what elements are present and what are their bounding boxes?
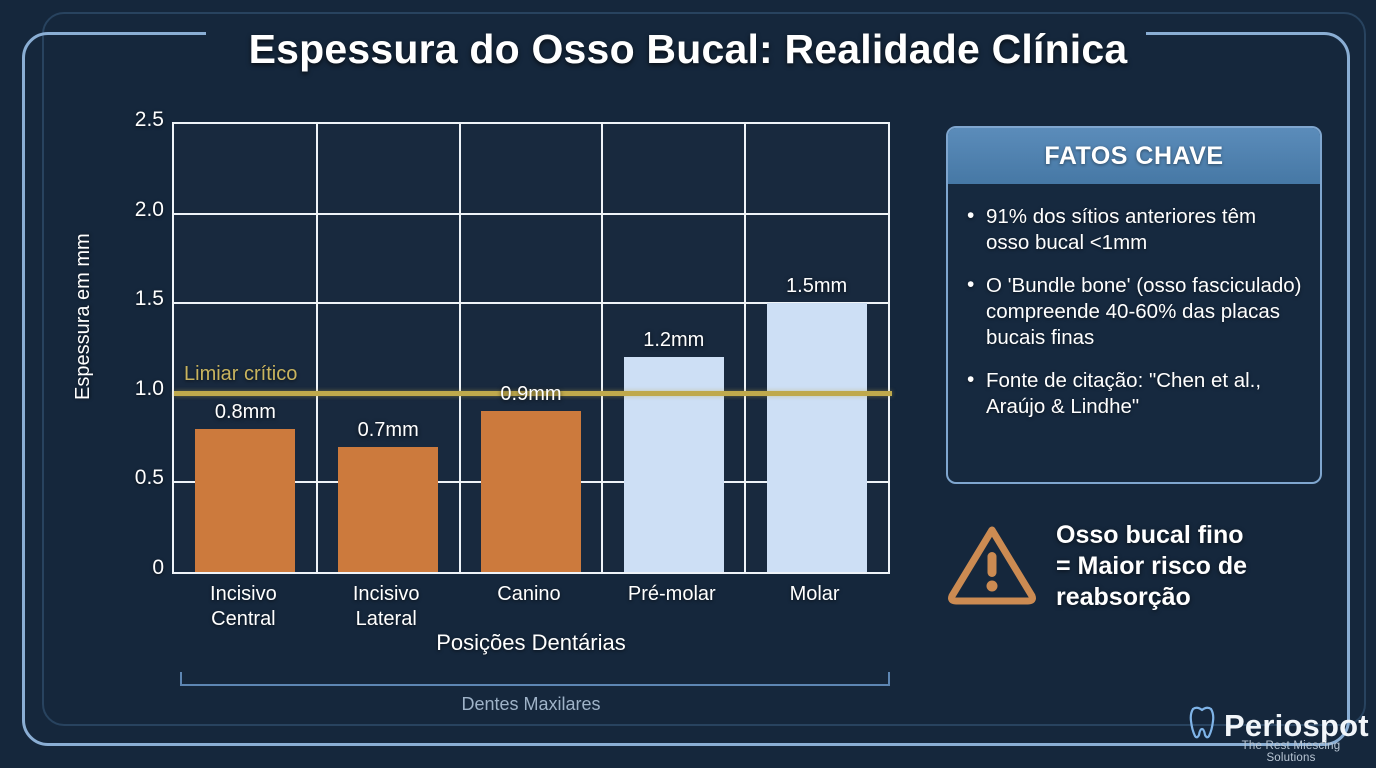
bar-value-label: 1.5mm (745, 275, 888, 298)
y-tick-label: 0.5 (135, 466, 164, 490)
bar (767, 303, 867, 572)
x-tick-label: Pré-molar (600, 582, 743, 607)
warning-text: Osso bucal fino = Maior risco de reabsor… (1056, 520, 1247, 613)
warning-line-1: Osso bucal fino (1056, 520, 1247, 551)
brand-name: Periospot (1224, 710, 1369, 742)
key-facts-panel: FATOS CHAVE 91% dos sítios anteriores tê… (946, 126, 1322, 484)
bar (481, 411, 581, 572)
gridline (316, 124, 318, 572)
x-tick-label: IncisivoCentral (172, 582, 315, 632)
bar-chart: Espessura em mm 00.51.01.52.02.5 Limiar … (0, 100, 930, 740)
bar-value-label: 0.8mm (174, 401, 317, 424)
warning-line-3: reabsorção (1056, 582, 1247, 613)
bar-value-label: 1.2mm (602, 329, 745, 352)
bracket-label: Dentes Maxilares (172, 694, 890, 715)
threshold-label: Limiar crítico (184, 363, 297, 386)
y-tick-label: 1.0 (135, 377, 164, 401)
x-tick-label: Molar (743, 582, 886, 607)
bar (195, 429, 295, 572)
x-tick-label: Canino (458, 582, 601, 607)
y-tick-label: 0 (152, 556, 164, 580)
tooth-icon (1188, 706, 1216, 745)
y-axis-title: Espessura em mm (72, 233, 95, 400)
x-axis-title: Posições Dentárias (172, 630, 890, 656)
maxillary-bracket (180, 672, 890, 686)
warning-line-2: = Maior risco de (1056, 551, 1247, 582)
bar (624, 357, 724, 572)
y-tick-label: 2.0 (135, 198, 164, 222)
brand-tagline: The Rest Miescing Solutions (1216, 740, 1366, 764)
x-tick-label: IncisivoLateral (315, 582, 458, 632)
bar (338, 447, 438, 572)
gridline (459, 124, 461, 572)
gridline (174, 213, 888, 215)
bar-value-label: 0.7mm (317, 419, 460, 442)
key-facts-list: 91% dos sítios anteriores têm osso bucal… (948, 184, 1320, 447)
key-fact-item: Fonte de citação: "Chen et al., Araújo &… (962, 368, 1302, 420)
y-tick-label: 1.5 (135, 287, 164, 311)
warning-callout: Osso bucal fino = Maior risco de reabsor… (946, 520, 1336, 613)
key-fact-item: 91% dos sítios anteriores têm osso bucal… (962, 204, 1302, 256)
y-tick-label: 2.5 (135, 108, 164, 132)
warning-triangle-icon (946, 522, 1038, 611)
bar-value-label: 0.9mm (460, 383, 603, 406)
page-title: Espessura do Osso Bucal: Realidade Clíni… (0, 26, 1376, 73)
key-facts-header: FATOS CHAVE (948, 128, 1320, 184)
key-fact-item: O 'Bundle bone' (osso fasciculado) compr… (962, 273, 1302, 351)
plot-area: Limiar crítico 0.8mm0.7mm0.9mm1.2mm1.5mm (172, 122, 890, 574)
